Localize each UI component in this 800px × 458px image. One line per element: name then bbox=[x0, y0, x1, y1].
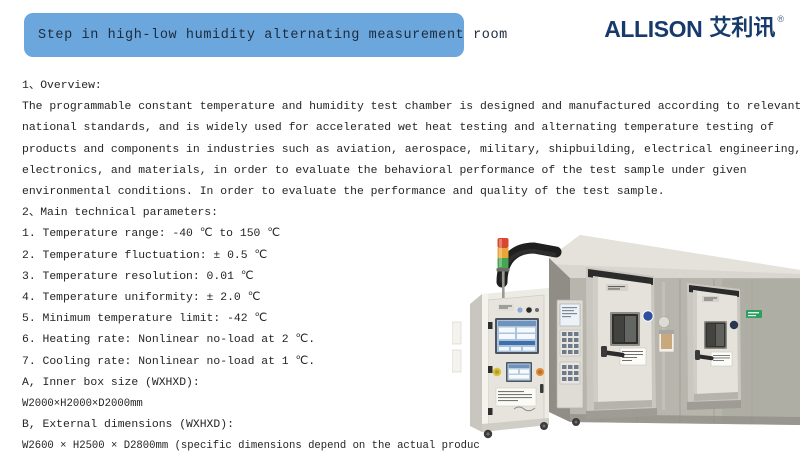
registered-trademark-icon: ® bbox=[777, 14, 784, 24]
body-line: national standards, and is widely used f… bbox=[22, 118, 712, 139]
body-line: 1、Overview: bbox=[22, 76, 712, 97]
page-header: Step in high-low humidity alternating me… bbox=[0, 0, 800, 68]
body-line: products and components in industries su… bbox=[22, 140, 712, 161]
brand-latin-text: ALLISON bbox=[604, 16, 702, 42]
body-line: environmental conditions. In order to ev… bbox=[22, 182, 712, 203]
product-photo bbox=[452, 226, 800, 450]
brand-logo[interactable]: ALLISON 艾利讯 ® bbox=[604, 16, 784, 48]
body-line: The programmable constant temperature an… bbox=[22, 97, 712, 118]
body-line: electronics, and materials, in order to … bbox=[22, 161, 712, 182]
body-line: 2、Main technical parameters: bbox=[22, 203, 712, 224]
brand-chinese-text: 艾利讯 bbox=[709, 16, 775, 42]
title-banner: Step in high-low humidity alternating me… bbox=[24, 13, 464, 57]
page-title: Step in high-low humidity alternating me… bbox=[38, 28, 508, 43]
